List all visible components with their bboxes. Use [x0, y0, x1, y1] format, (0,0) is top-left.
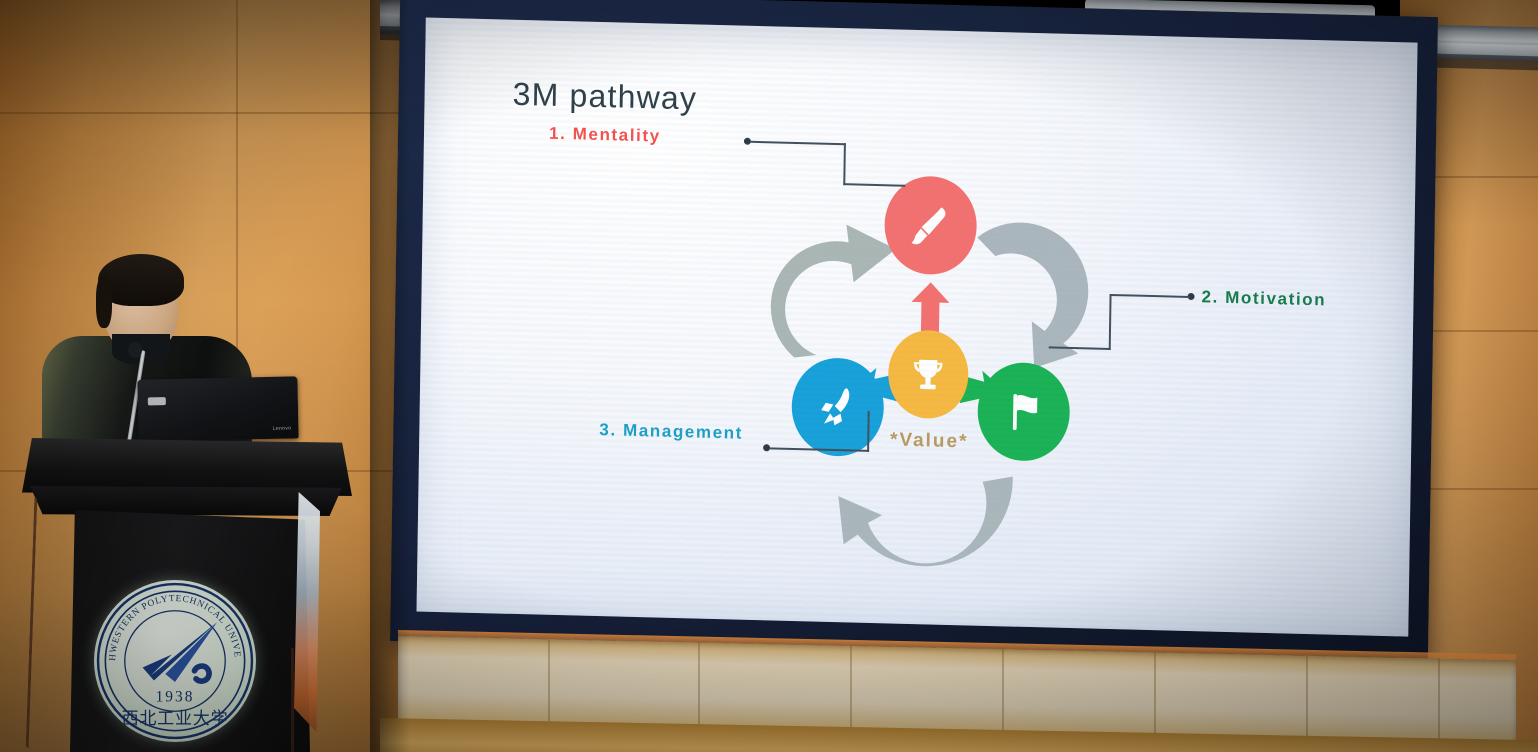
slide-title: 3M pathway	[512, 76, 697, 118]
value-label: *Value*	[849, 428, 1009, 454]
rocket-icon	[813, 381, 862, 433]
projection-screen-surface: 3M pathway	[417, 18, 1418, 637]
laptop-logo	[148, 397, 166, 405]
microphone-head	[128, 342, 142, 358]
label-management: 3. Management	[599, 420, 743, 444]
leader-line-motivation-h1	[1110, 294, 1190, 298]
label-motivation: 2. Motivation	[1201, 287, 1326, 310]
power-cable-left	[26, 498, 38, 748]
leader-line-mentality-v	[843, 143, 846, 185]
node-value-center[interactable]	[888, 329, 969, 419]
arrow-bottom-icon	[815, 460, 1037, 596]
leader-line-motivation-v	[1109, 294, 1112, 350]
leader-line-mentality-h2	[843, 183, 905, 187]
flag-icon	[999, 386, 1048, 438]
laptop-brand-text: Lenovo	[273, 425, 292, 431]
power-cable-right	[260, 648, 294, 752]
seal-chinese-name: 西北工业大学	[122, 709, 229, 728]
university-seal: NORTHWESTERN POLYTECHNICAL UNIVERSITY 19…	[94, 580, 256, 742]
projection-screen-frame: 3M pathway	[390, 0, 1438, 667]
podium: NORTHWESTERN POLYTECHNICAL UNIVERSITY 19…	[22, 438, 352, 752]
presenter-hair-side	[96, 276, 112, 328]
label-mentality: 1. Mentality	[549, 124, 661, 147]
leader-line-mentality-h1	[750, 141, 846, 145]
presentation-slide: 3M pathway	[417, 18, 1418, 637]
seal-year: 1938	[156, 689, 195, 706]
laptop[interactable]: Lenovo	[137, 376, 298, 441]
arrow-center-to-top-icon	[909, 282, 952, 333]
trophy-icon	[907, 351, 949, 398]
paintbrush-icon	[906, 199, 955, 251]
lecture-hall-scene: 3M pathway	[0, 0, 1538, 752]
